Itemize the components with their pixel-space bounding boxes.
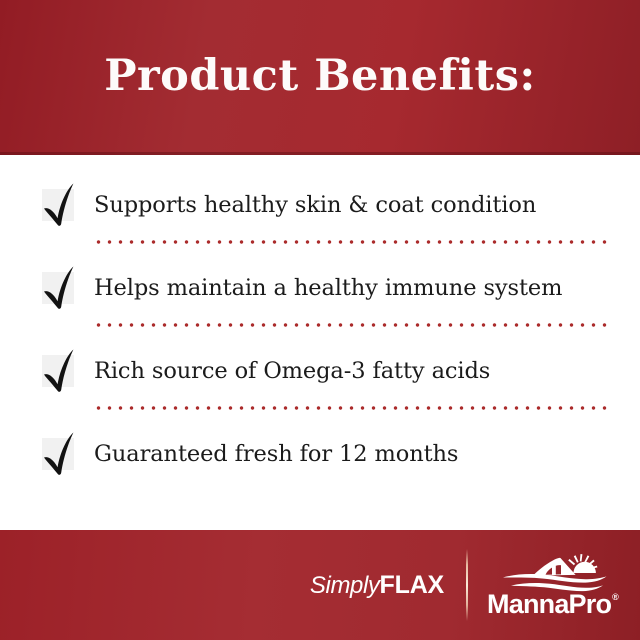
benefit-text: Guaranteed fresh for 12 months <box>94 442 458 467</box>
benefit-text: Rich source of Omega-3 fatty acids <box>94 359 490 384</box>
checkmark-box <box>42 272 74 304</box>
mannapro-wordmark: MannaPro ® <box>487 591 618 618</box>
checkmark-box <box>42 355 74 387</box>
checkmark-box <box>42 438 74 470</box>
checkmark-icon <box>39 431 81 477</box>
checkmark-box <box>42 189 74 221</box>
list-item: Supports healthy skin & coat condition <box>0 177 640 233</box>
registered-trademark-icon: ® <box>612 593 618 602</box>
simplyflax-word-flax: FLAX <box>380 571 444 600</box>
mannapro-name: MannaPro <box>487 591 611 618</box>
barn-sun-field-logo-icon <box>497 553 609 593</box>
checkmark-icon <box>39 348 81 394</box>
benefit-separator <box>93 323 611 327</box>
benefit-separator <box>93 406 611 410</box>
simplyflax-word-simply: Simply <box>310 572 380 600</box>
footer-logo-group: Simply FLAX <box>310 530 618 640</box>
benefits-list: Supports healthy skin & coat condition H… <box>0 155 640 530</box>
list-item: Rich source of Omega-3 fatty acids <box>0 343 640 399</box>
header-band: Product Benefits: <box>0 0 640 155</box>
benefit-separator <box>93 240 611 244</box>
checkmark-icon <box>39 265 81 311</box>
list-item: Helps maintain a healthy immune system <box>0 260 640 316</box>
logo-divider <box>466 549 468 621</box>
benefit-text: Helps maintain a healthy immune system <box>94 276 562 301</box>
page-title: Product Benefits: <box>0 0 640 155</box>
checkmark-icon <box>39 182 81 228</box>
mannapro-logo: MannaPro ® <box>487 553 618 618</box>
footer-band: Simply FLAX <box>0 530 640 640</box>
simplyflax-logo: Simply FLAX <box>310 571 444 600</box>
benefit-text: Supports healthy skin & coat condition <box>94 193 536 218</box>
product-benefits-graphic: Product Benefits: Supports healthy skin … <box>0 0 640 640</box>
list-item: Guaranteed fresh for 12 months <box>0 426 640 482</box>
